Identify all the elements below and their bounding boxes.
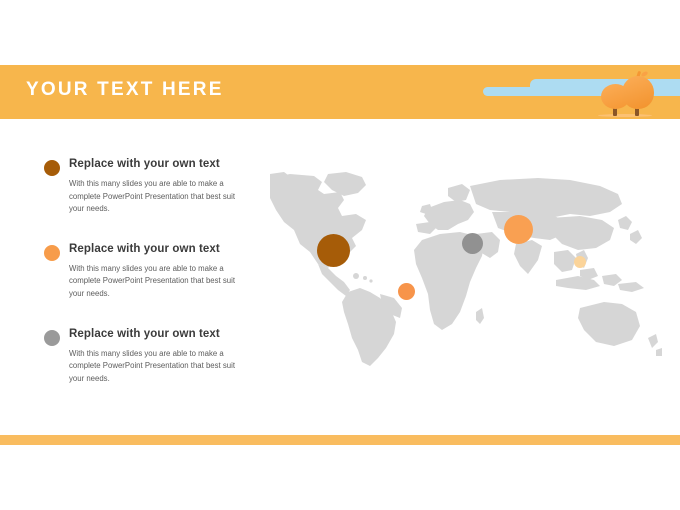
bullet-heading-3: Replace with your own text xyxy=(69,327,259,342)
tree-right-crown-icon xyxy=(622,76,654,109)
tree-decoration-icon xyxy=(596,70,656,119)
map-marker-south-america-brazil[interactable] xyxy=(398,283,415,300)
world-map-svg xyxy=(270,172,670,387)
bullet-heading-2: Replace with your own text xyxy=(69,242,259,257)
map-marker-mediterranean-middle-east[interactable] xyxy=(462,233,483,254)
bullet-dot-icon-1 xyxy=(44,160,60,176)
bullet-dot-icon-2 xyxy=(44,245,60,261)
bullet-body-3: With this many slides you are able to ma… xyxy=(69,348,247,386)
tree-ground-shadow xyxy=(598,114,652,117)
bullet-dot-icon-3 xyxy=(44,330,60,346)
bullet-heading-1: Replace with your own text xyxy=(69,157,259,172)
bullet-block-2: Replace with your own text With this man… xyxy=(44,242,259,301)
world-map xyxy=(270,172,670,387)
bullet-body-2: With this many slides you are able to ma… xyxy=(69,263,247,301)
bullet-block-1: Replace with your own text With this man… xyxy=(44,157,259,216)
map-landmasses xyxy=(270,172,662,366)
slide-canvas: YOUR TEXT HERE Replace with your own tex… xyxy=(0,0,680,510)
map-marker-north-america[interactable] xyxy=(317,234,350,267)
map-marker-philippines[interactable] xyxy=(574,256,586,268)
bullet-body-1: With this many slides you are able to ma… xyxy=(69,178,247,216)
bullet-list: Replace with your own text With this man… xyxy=(44,157,259,385)
map-marker-central-asia[interactable] xyxy=(504,215,533,244)
bullet-block-3: Replace with your own text With this man… xyxy=(44,327,259,386)
bottom-accent-bar xyxy=(0,435,680,445)
page-title: YOUR TEXT HERE xyxy=(26,79,224,101)
